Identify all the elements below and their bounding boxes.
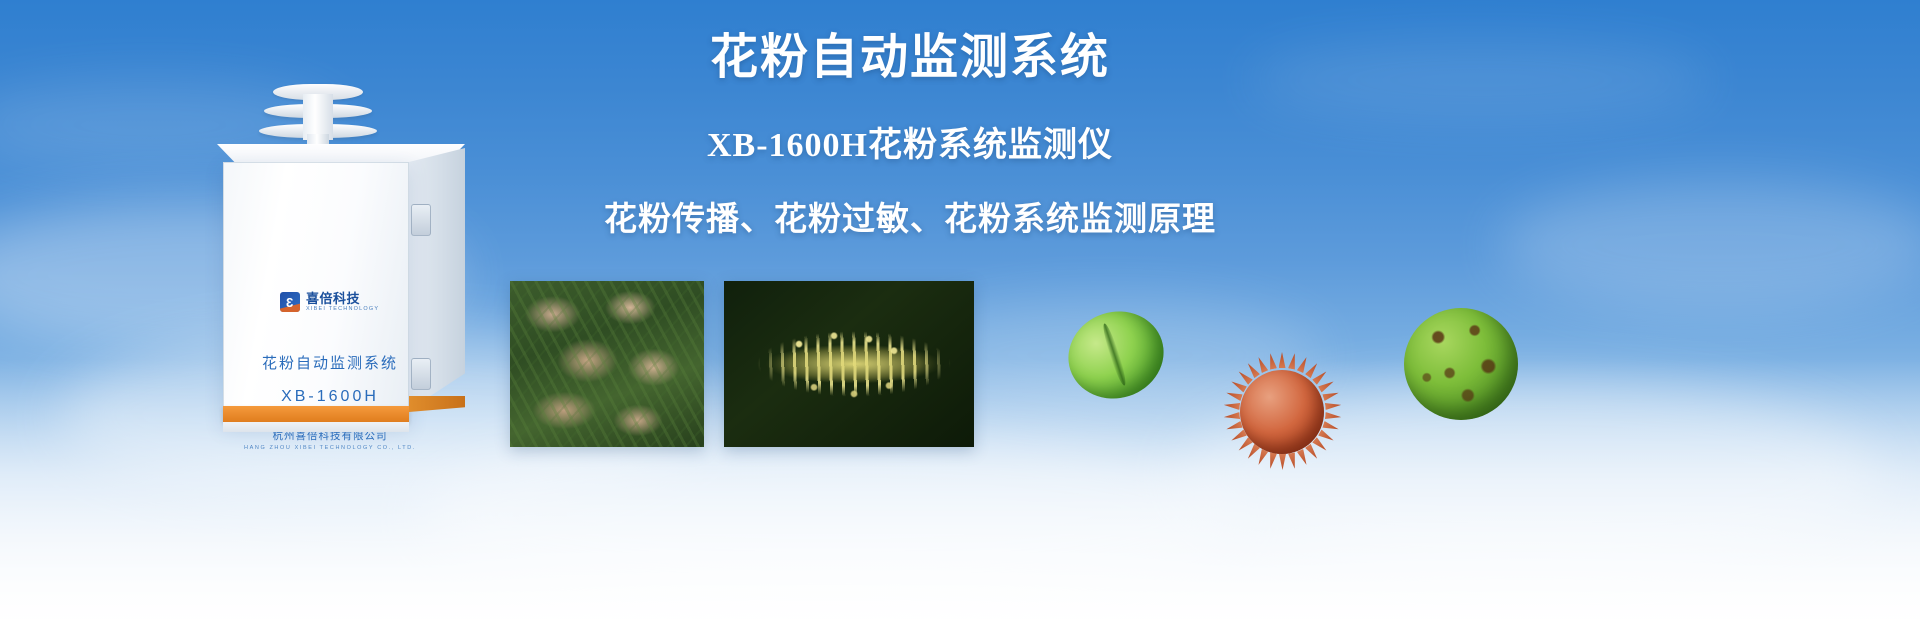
pollen-monitor-device: 喜倍科技 XIBEI TECHNOLOGY 花粉自动监测系统 XB-1600H … bbox=[195, 78, 485, 438]
cabinet-foot bbox=[223, 422, 409, 432]
catkin-flower-photo bbox=[724, 281, 974, 447]
pollen-spike bbox=[1279, 352, 1286, 368]
pollen-spike bbox=[1223, 412, 1240, 421]
banner-description: 花粉传播、花粉过敏、花粉系统监测原理 bbox=[590, 192, 1230, 240]
cabinet-handle bbox=[411, 358, 431, 390]
pollen-spike bbox=[1225, 421, 1242, 433]
banner-subtitle: XB-1600H花粉系统监测仪 bbox=[590, 117, 1230, 166]
pollen-spike bbox=[1266, 452, 1276, 469]
pollen-spike bbox=[1255, 356, 1268, 373]
pollen-spike bbox=[1324, 401, 1341, 410]
pollen-spike bbox=[1229, 378, 1246, 392]
green-pollen-grain-illustration bbox=[1068, 312, 1164, 398]
pollen-spike bbox=[1324, 412, 1341, 421]
pollen-spike bbox=[1236, 369, 1253, 385]
cedar-pollen-cones-photo bbox=[510, 281, 704, 447]
green-spherical-pollen-illustration bbox=[1404, 308, 1518, 420]
pollen-spike bbox=[1304, 361, 1319, 378]
pollen-spike bbox=[1279, 454, 1286, 470]
pollen-spike bbox=[1296, 449, 1309, 466]
pollen-spike bbox=[1296, 356, 1309, 373]
cabinet-base-stripe-side bbox=[409, 396, 465, 412]
cabinet-handle bbox=[411, 204, 431, 236]
xibei-logo-icon bbox=[280, 292, 300, 312]
cloud-decoration bbox=[420, 430, 1240, 600]
device-company-en: HANG ZHOU XIBEI TECHNOLOGY CO., LTD. bbox=[223, 445, 437, 451]
pollen-spike bbox=[1266, 353, 1276, 370]
pollen-spike bbox=[1304, 444, 1319, 461]
pollen-monitor-banner: 喜倍科技 XIBEI TECHNOLOGY 花粉自动监测系统 XB-1600H … bbox=[0, 0, 1920, 619]
pollen-spike bbox=[1322, 421, 1339, 433]
pollen-spike bbox=[1288, 353, 1298, 370]
pollen-spike bbox=[1255, 449, 1268, 466]
pollen-spike bbox=[1317, 429, 1334, 443]
cabinet-front-panel: 喜倍科技 XIBEI TECHNOLOGY 花粉自动监测系统 XB-1600H … bbox=[223, 162, 409, 424]
pollen-spike bbox=[1312, 437, 1329, 453]
banner-title: 花粉自动监测系统 bbox=[590, 30, 1230, 85]
brand-name-en: XIBEI TECHNOLOGY bbox=[306, 307, 379, 313]
cloud-decoration bbox=[1250, 40, 1710, 120]
device-model-number: XB-1600H bbox=[223, 388, 437, 406]
brand-name-cn: 喜倍科技 bbox=[306, 292, 379, 305]
pollen-spike bbox=[1244, 361, 1259, 378]
pollen-spike bbox=[1317, 378, 1334, 392]
device-brand-logo: 喜倍科技 XIBEI TECHNOLOGY bbox=[280, 292, 379, 313]
banner-headline-block: 花粉自动监测系统 XB-1600H花粉系统监测仪 花粉传播、花粉过敏、花粉系统监… bbox=[590, 30, 1230, 240]
spiky-red-pollen-illustration bbox=[1222, 352, 1342, 470]
pollen-spike bbox=[1225, 389, 1242, 401]
cabinet-base-stripe bbox=[223, 406, 409, 422]
device-product-name: 花粉自动监测系统 bbox=[223, 352, 437, 373]
pollen-spike bbox=[1223, 401, 1240, 410]
cloud-decoration bbox=[1500, 180, 1920, 310]
pollen-spike bbox=[1312, 369, 1329, 385]
pollen-spike bbox=[1288, 452, 1298, 469]
pollen-spike bbox=[1322, 389, 1339, 401]
